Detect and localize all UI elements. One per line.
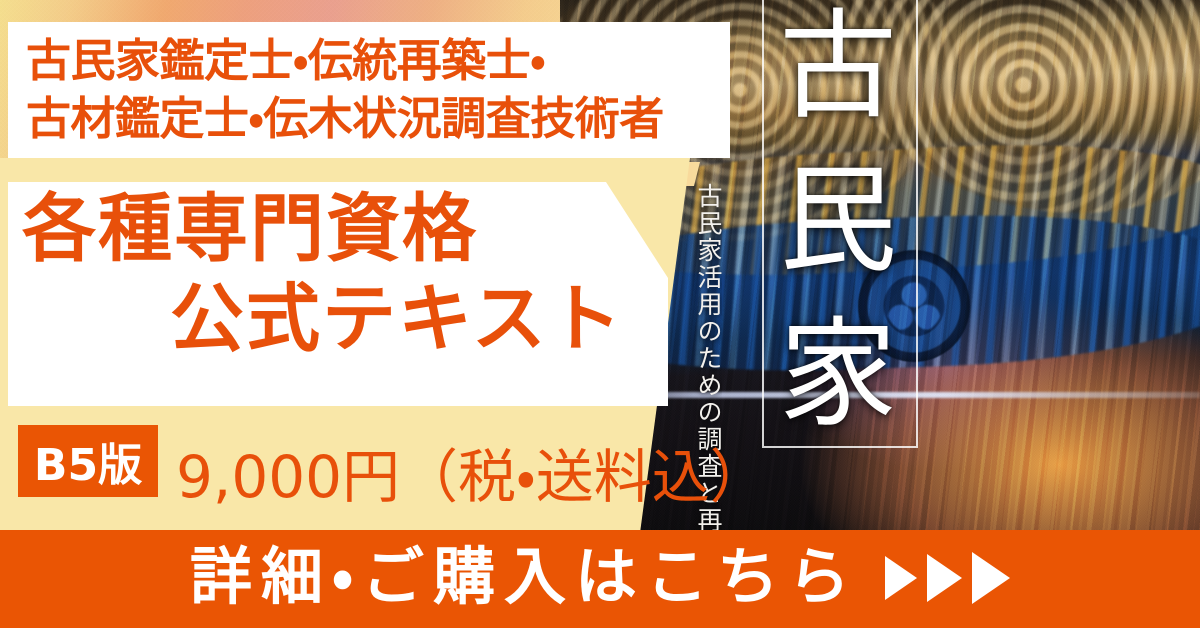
price-text: 9,000円（税・送料込）	[176, 430, 768, 514]
book-cover-title: 古 民 家	[768, 4, 908, 444]
heading-panel: 古民家鑑定士・伝統再築士・ 古材鑑定士・伝木状況調査技術者	[8, 22, 730, 158]
format-badge: B5版	[18, 425, 158, 497]
triangle-right-icon	[885, 556, 917, 600]
main-copy-line-2: 公式テキスト	[170, 280, 624, 358]
promo-banner: 伝統構法 古民家活用のための調査と再生の 古 民 家 古民家鑑定士・伝統再築士・…	[0, 0, 1200, 628]
book-cover-title-char-1: 古	[779, 10, 897, 122]
cta-arrows	[885, 552, 1010, 604]
triangle-right-icon	[927, 554, 962, 602]
main-copy-line-1: 各種専門資格	[22, 190, 478, 268]
book-cover-title-char-2: 民	[779, 164, 897, 276]
heading-line-2: 古材鑑定士・伝木状況調査技術者	[26, 90, 730, 149]
triangle-right-icon	[972, 552, 1010, 604]
book-cover-title-char-3: 家	[779, 318, 897, 430]
cta-label: 詳細・ご購入はこちら	[190, 546, 859, 608]
cta-button[interactable]: 詳細・ご購入はこちら	[0, 530, 1200, 628]
heading-line-1: 古民家鑑定士・伝統再築士・	[26, 32, 730, 91]
